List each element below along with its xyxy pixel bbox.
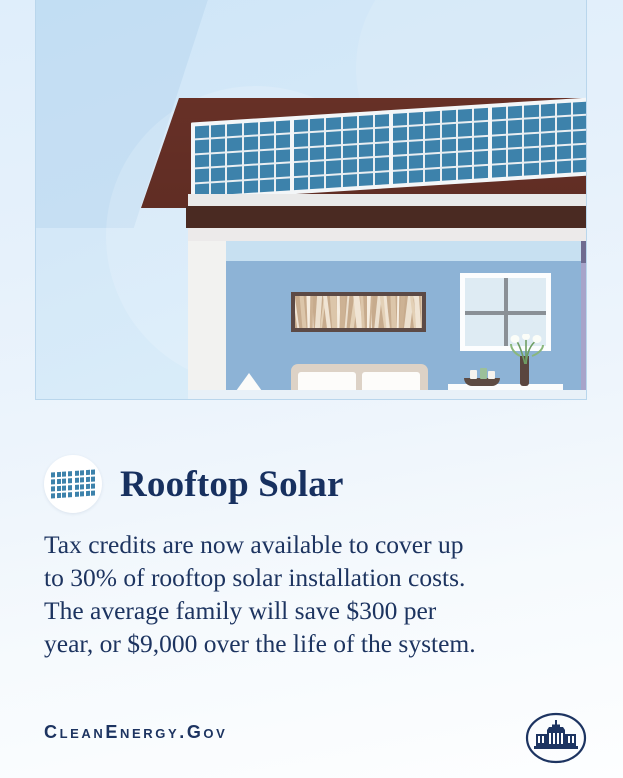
solar-icon-cell xyxy=(57,486,61,492)
solar-panel-group xyxy=(393,108,488,184)
art-canvas xyxy=(295,296,422,328)
solar-cell xyxy=(508,163,522,176)
candle xyxy=(488,371,495,379)
body-line: Tax credits are now available to cover u… xyxy=(44,528,544,561)
solar-cell xyxy=(573,102,587,115)
solar-cell xyxy=(294,134,308,147)
solar-cell xyxy=(211,153,225,166)
solar-icon-cell xyxy=(57,472,61,478)
solar-cell xyxy=(442,168,456,181)
solar-icon-cell xyxy=(75,477,79,483)
solar-icon-cell xyxy=(68,471,72,477)
body-line: The average family will save $300 per xyxy=(44,594,544,627)
solar-cell xyxy=(343,174,357,187)
solar-cell xyxy=(458,123,472,136)
solar-panel-icon-group xyxy=(51,471,72,498)
solar-cell xyxy=(474,165,488,178)
solar-icon-cell xyxy=(68,492,72,498)
solar-cell xyxy=(508,135,522,148)
solar-cell xyxy=(393,113,407,126)
solar-cell xyxy=(359,130,373,143)
solar-cell xyxy=(343,159,357,172)
solar-cell xyxy=(260,179,274,192)
solar-panel-group xyxy=(195,120,290,196)
solar-panel-icon xyxy=(44,455,102,513)
solar-cell xyxy=(244,166,258,179)
solar-cell xyxy=(409,141,423,154)
solar-cell xyxy=(310,161,324,174)
solar-cell xyxy=(359,173,373,186)
solar-panel-group xyxy=(492,102,587,178)
solar-cell xyxy=(573,159,587,172)
solar-cell xyxy=(310,133,324,146)
solar-cell xyxy=(326,146,340,159)
solar-icon-cell xyxy=(75,491,79,497)
interior-floor xyxy=(188,390,587,400)
solar-cell xyxy=(211,168,225,181)
solar-cell xyxy=(508,106,522,119)
solar-cell xyxy=(294,148,308,161)
roof-fascia xyxy=(186,206,587,228)
solar-cell xyxy=(195,169,209,182)
solar-cell xyxy=(492,107,506,120)
headline-row: Rooftop Solar xyxy=(44,455,344,513)
solar-cell xyxy=(211,139,225,152)
solar-cell xyxy=(508,149,522,162)
solar-panel-group xyxy=(294,114,389,190)
solar-cell xyxy=(524,148,538,161)
solar-icon-cell xyxy=(51,472,55,478)
solar-cell xyxy=(524,105,538,118)
solar-cell xyxy=(474,151,488,164)
solar-cell xyxy=(294,177,308,190)
flowers-icon xyxy=(504,334,550,364)
solar-cell xyxy=(227,167,241,180)
solar-cell xyxy=(276,164,290,177)
solar-icon-cell xyxy=(91,483,95,489)
solar-cell xyxy=(276,120,290,133)
solar-cell xyxy=(474,137,488,150)
solar-cell xyxy=(195,154,209,167)
solar-cell xyxy=(409,112,423,125)
solar-cell xyxy=(211,124,225,137)
solar-cell xyxy=(260,136,274,149)
solar-icon-cell xyxy=(80,491,84,497)
lamp-icon xyxy=(236,373,262,391)
solar-icon-cell xyxy=(62,471,66,477)
solar-icon-cell xyxy=(51,479,55,485)
solar-icon-cell xyxy=(51,493,55,499)
window-mullion-horizontal xyxy=(465,311,546,315)
solar-cell xyxy=(310,176,324,189)
candle xyxy=(470,370,477,379)
solar-panel-icon-grid xyxy=(51,469,95,498)
solar-cell xyxy=(260,121,274,134)
footer-brand[interactable]: CleanEnergy.Gov xyxy=(44,722,227,743)
solar-cell xyxy=(294,119,308,132)
solar-cell xyxy=(425,125,439,138)
solar-cell xyxy=(508,120,522,133)
solar-icon-cell xyxy=(91,476,95,482)
solar-cell xyxy=(541,118,555,131)
solar-cell xyxy=(343,145,357,158)
solar-cell xyxy=(227,152,241,165)
solar-cell xyxy=(343,116,357,129)
solar-cell xyxy=(244,122,258,135)
solar-icon-cell xyxy=(91,469,95,475)
solar-panel-icon-group xyxy=(75,469,96,496)
solar-cell xyxy=(541,147,555,160)
decorative-bowl xyxy=(464,378,500,386)
solar-cell xyxy=(474,122,488,135)
solar-cell xyxy=(359,158,373,171)
solar-cell xyxy=(442,124,456,137)
solar-cell xyxy=(326,175,340,188)
solar-cell xyxy=(375,114,389,127)
solar-cell xyxy=(492,164,506,177)
solar-cell xyxy=(409,155,423,168)
solar-cell xyxy=(195,140,209,153)
solar-cell xyxy=(195,125,209,138)
solar-cell xyxy=(244,137,258,150)
solar-cell xyxy=(227,123,241,136)
side-room-header xyxy=(581,241,587,263)
solar-cell xyxy=(573,130,587,143)
art-stroke xyxy=(360,296,365,328)
solar-cell xyxy=(359,115,373,128)
solar-icon-cell xyxy=(91,490,95,496)
solar-cell xyxy=(524,134,538,147)
solar-cell xyxy=(425,169,439,182)
solar-cell xyxy=(409,170,423,183)
solar-icon-cell xyxy=(75,484,79,490)
solar-cell xyxy=(244,151,258,164)
solar-cell xyxy=(557,160,571,173)
solar-cell xyxy=(425,140,439,153)
page-title: Rooftop Solar xyxy=(120,463,344,506)
solar-cell xyxy=(541,161,555,174)
solar-icon-cell xyxy=(80,470,84,476)
solar-icon-cell xyxy=(57,479,61,485)
art-stroke xyxy=(421,296,422,328)
solar-cell xyxy=(458,138,472,151)
solar-cell xyxy=(524,162,538,175)
solar-cell xyxy=(442,153,456,166)
solar-cell xyxy=(557,103,571,116)
art-stroke xyxy=(390,296,397,328)
solar-cell xyxy=(492,121,506,134)
solar-cell xyxy=(227,181,241,194)
solar-cell xyxy=(425,154,439,167)
solar-cell xyxy=(442,110,456,123)
solar-cell xyxy=(375,157,389,170)
solar-cell xyxy=(492,136,506,149)
solar-cell xyxy=(310,147,324,160)
solar-cell xyxy=(573,116,587,129)
solar-icon-cell xyxy=(80,477,84,483)
solar-cell xyxy=(474,108,488,121)
side-room xyxy=(581,241,587,400)
solar-cell xyxy=(393,127,407,140)
solar-cell xyxy=(557,131,571,144)
body-line: to 30% of rooftop solar installation cos… xyxy=(44,561,544,594)
solar-cell xyxy=(393,142,407,155)
solar-cell xyxy=(541,104,555,117)
solar-cell xyxy=(294,162,308,175)
solar-cell xyxy=(375,172,389,185)
solar-cell xyxy=(557,146,571,159)
solar-icon-cell xyxy=(68,478,72,484)
solar-cell xyxy=(375,143,389,156)
framed-art xyxy=(291,292,426,332)
solar-cell xyxy=(458,152,472,165)
solar-icon-cell xyxy=(86,470,90,476)
solar-icon-cell xyxy=(86,484,90,490)
solar-cell xyxy=(442,139,456,152)
solar-cell xyxy=(458,167,472,180)
solar-cell xyxy=(326,117,340,130)
solar-cell xyxy=(227,138,241,151)
solar-icon-cell xyxy=(86,477,90,483)
solar-cell xyxy=(276,135,290,148)
solar-cell xyxy=(244,180,258,193)
solar-cell xyxy=(326,160,340,173)
solar-icon-cell xyxy=(57,492,61,498)
solar-icon-cell xyxy=(51,486,55,492)
solar-cell xyxy=(276,178,290,191)
roof-soffit xyxy=(188,228,587,241)
solar-cell xyxy=(260,150,274,163)
illustration-panel xyxy=(35,0,587,400)
solar-cell xyxy=(425,111,439,124)
candle xyxy=(480,368,487,379)
solar-icon-cell xyxy=(68,485,72,491)
solar-cell xyxy=(492,150,506,163)
solar-cell xyxy=(260,165,274,178)
solar-cell xyxy=(393,171,407,184)
solar-cell xyxy=(458,109,472,122)
solar-cell xyxy=(326,132,340,145)
solar-cell xyxy=(343,131,357,144)
solar-cell xyxy=(557,117,571,130)
white-house-seal-icon xyxy=(525,712,587,764)
solar-icon-cell xyxy=(86,490,90,496)
body-copy: Tax credits are now available to cover u… xyxy=(44,528,544,660)
solar-icon-cell xyxy=(62,485,66,491)
interior-wall-upper-band xyxy=(226,241,581,261)
solar-cell xyxy=(310,118,324,131)
solar-cell xyxy=(359,144,373,157)
solar-cell xyxy=(573,145,587,158)
solar-cell xyxy=(375,129,389,142)
solar-icon-cell xyxy=(62,478,66,484)
solar-cell xyxy=(541,133,555,146)
solar-cell xyxy=(276,149,290,162)
solar-icon-cell xyxy=(75,471,79,477)
body-line: year, or $9,000 over the life of the sys… xyxy=(44,627,544,660)
solar-icon-cell xyxy=(62,492,66,498)
solar-cell xyxy=(524,119,538,132)
solar-icon-cell xyxy=(80,484,84,490)
solar-cell xyxy=(409,126,423,139)
solar-cell xyxy=(393,156,407,169)
